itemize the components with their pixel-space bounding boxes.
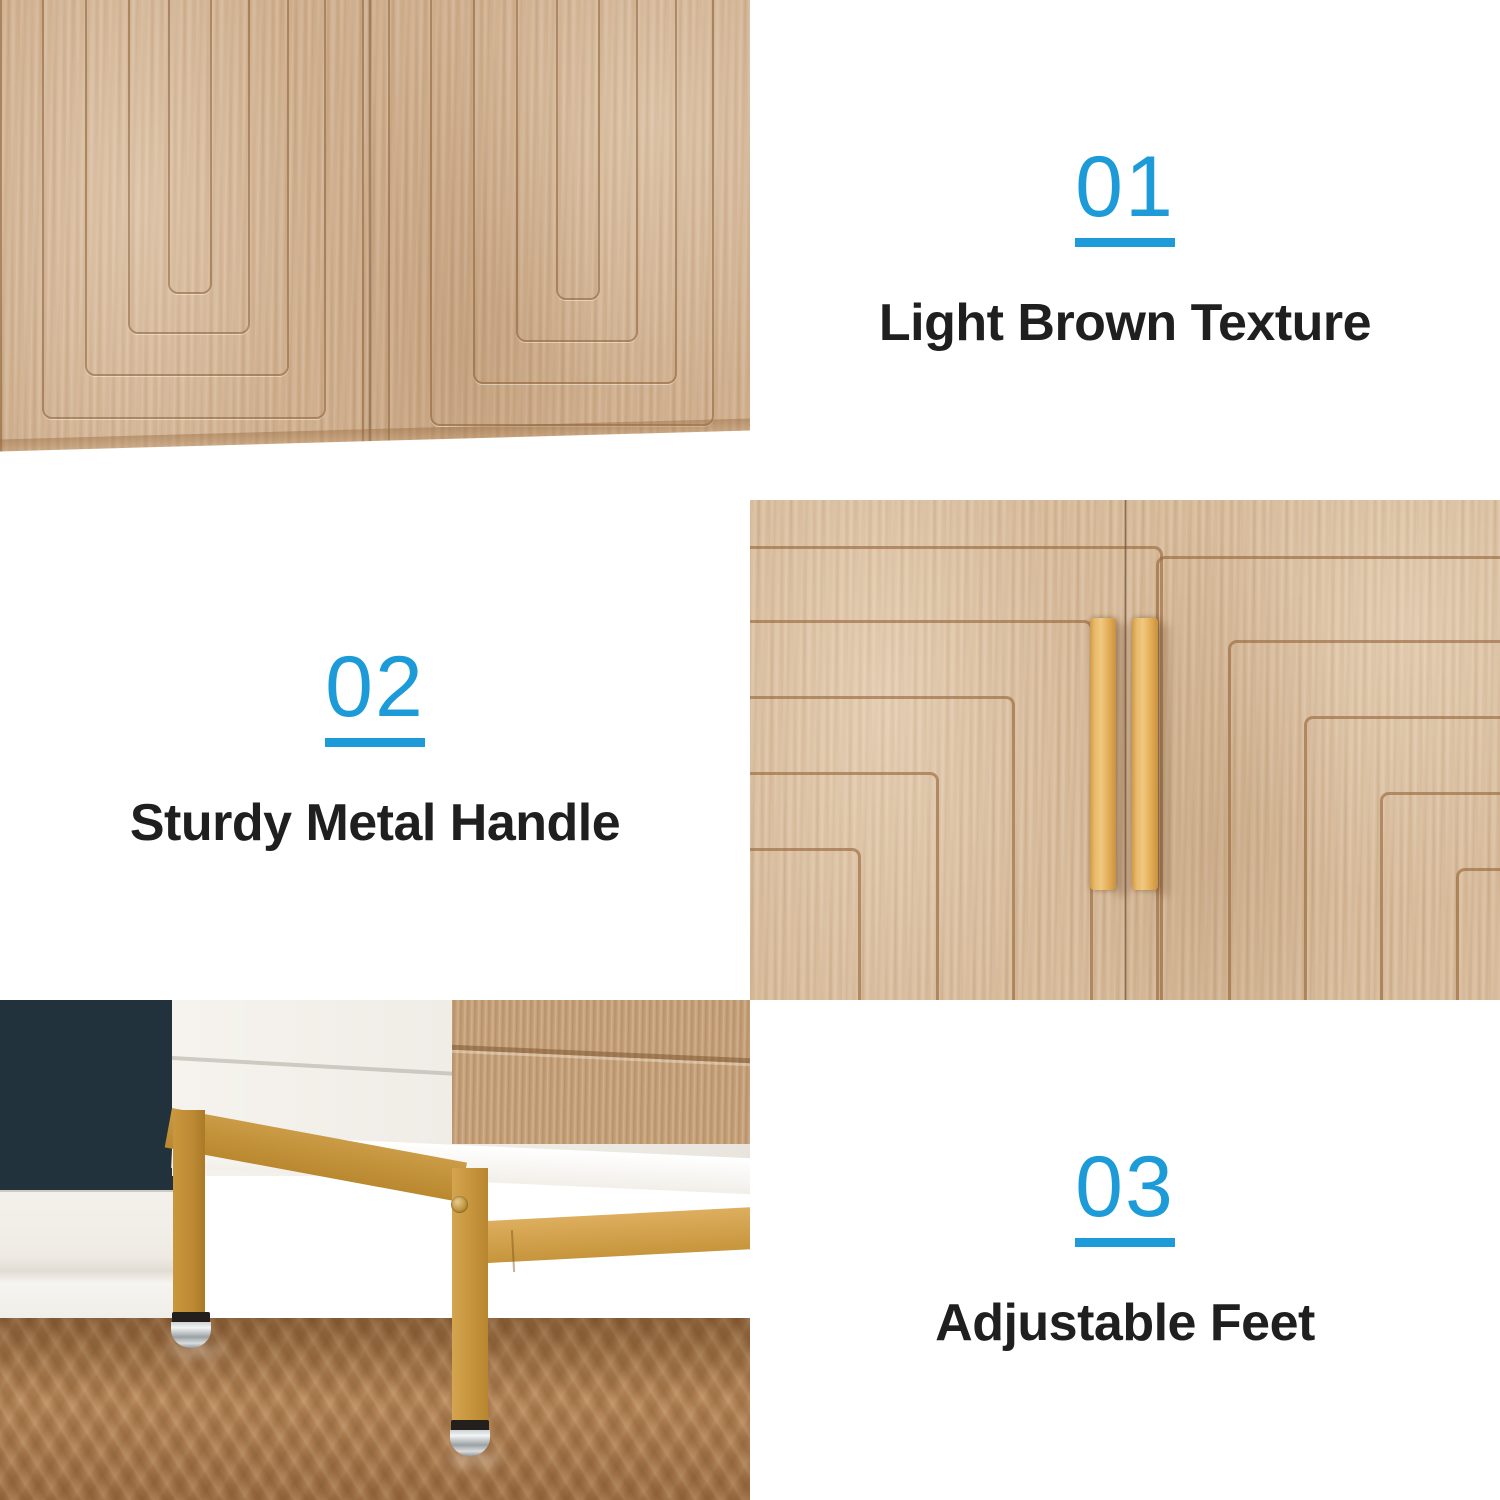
feature-infographic: 01 Light Brown Texture 02 Sturdy Metal H… <box>0 0 1500 1500</box>
groove-pattern-right <box>372 0 750 490</box>
feature-title-03: Adjustable Feet <box>935 1293 1315 1353</box>
handle-shadow <box>1114 624 1130 896</box>
herringbone-floor <box>0 1318 750 1500</box>
caption-feature-02: 02 Sturdy Metal Handle <box>0 500 750 1000</box>
feature-number-text: 02 <box>325 647 425 729</box>
feature-title-01: Light Brown Texture <box>879 293 1371 353</box>
floor-reflection-back <box>168 1344 224 1358</box>
feature-number-02: 02 <box>325 647 425 748</box>
step-groove-right-5 <box>1456 868 1500 1000</box>
gold-leg-back <box>173 1110 205 1320</box>
feature-number-text: 03 <box>1075 1147 1175 1229</box>
gold-handle-right[interactable] <box>1132 618 1158 890</box>
cabinet-door-right <box>372 0 750 490</box>
feature-number-01: 01 <box>1075 147 1175 248</box>
groove-ring-6 <box>168 0 212 294</box>
caption-feature-03: 03 Adjustable Feet <box>750 1000 1500 1500</box>
floor-shading <box>0 1318 750 1500</box>
photo-adjustable-feet-closeup <box>0 1000 750 1500</box>
leg-screw <box>451 1196 468 1213</box>
feature-number-underline <box>1075 1238 1175 1247</box>
cabinet-door-left <box>0 0 370 490</box>
cabinet-door-wood-panel <box>452 1000 750 1144</box>
photo-cabinet-wood-texture-closeup <box>0 0 750 500</box>
feature-number-text: 01 <box>1075 147 1175 229</box>
caption-feature-01: 01 Light Brown Texture <box>750 0 1500 500</box>
photo-gold-metal-handle-closeup <box>750 500 1500 1000</box>
groove-pattern-left <box>0 0 370 490</box>
feature-title-02: Sturdy Metal Handle <box>130 793 620 853</box>
feature-number-03: 03 <box>1075 1147 1175 1248</box>
door-seam <box>368 0 372 492</box>
wall-dark-teal <box>0 1000 178 1196</box>
step-groove-left-5 <box>750 848 861 1000</box>
gold-handle-left[interactable] <box>1090 618 1116 890</box>
floor-reflection-front <box>446 1452 502 1468</box>
feature-number-underline <box>1075 238 1175 247</box>
groove-ring-6 <box>556 0 600 300</box>
feature-number-underline <box>325 738 425 747</box>
wood-grain-overlay <box>452 1000 750 1144</box>
